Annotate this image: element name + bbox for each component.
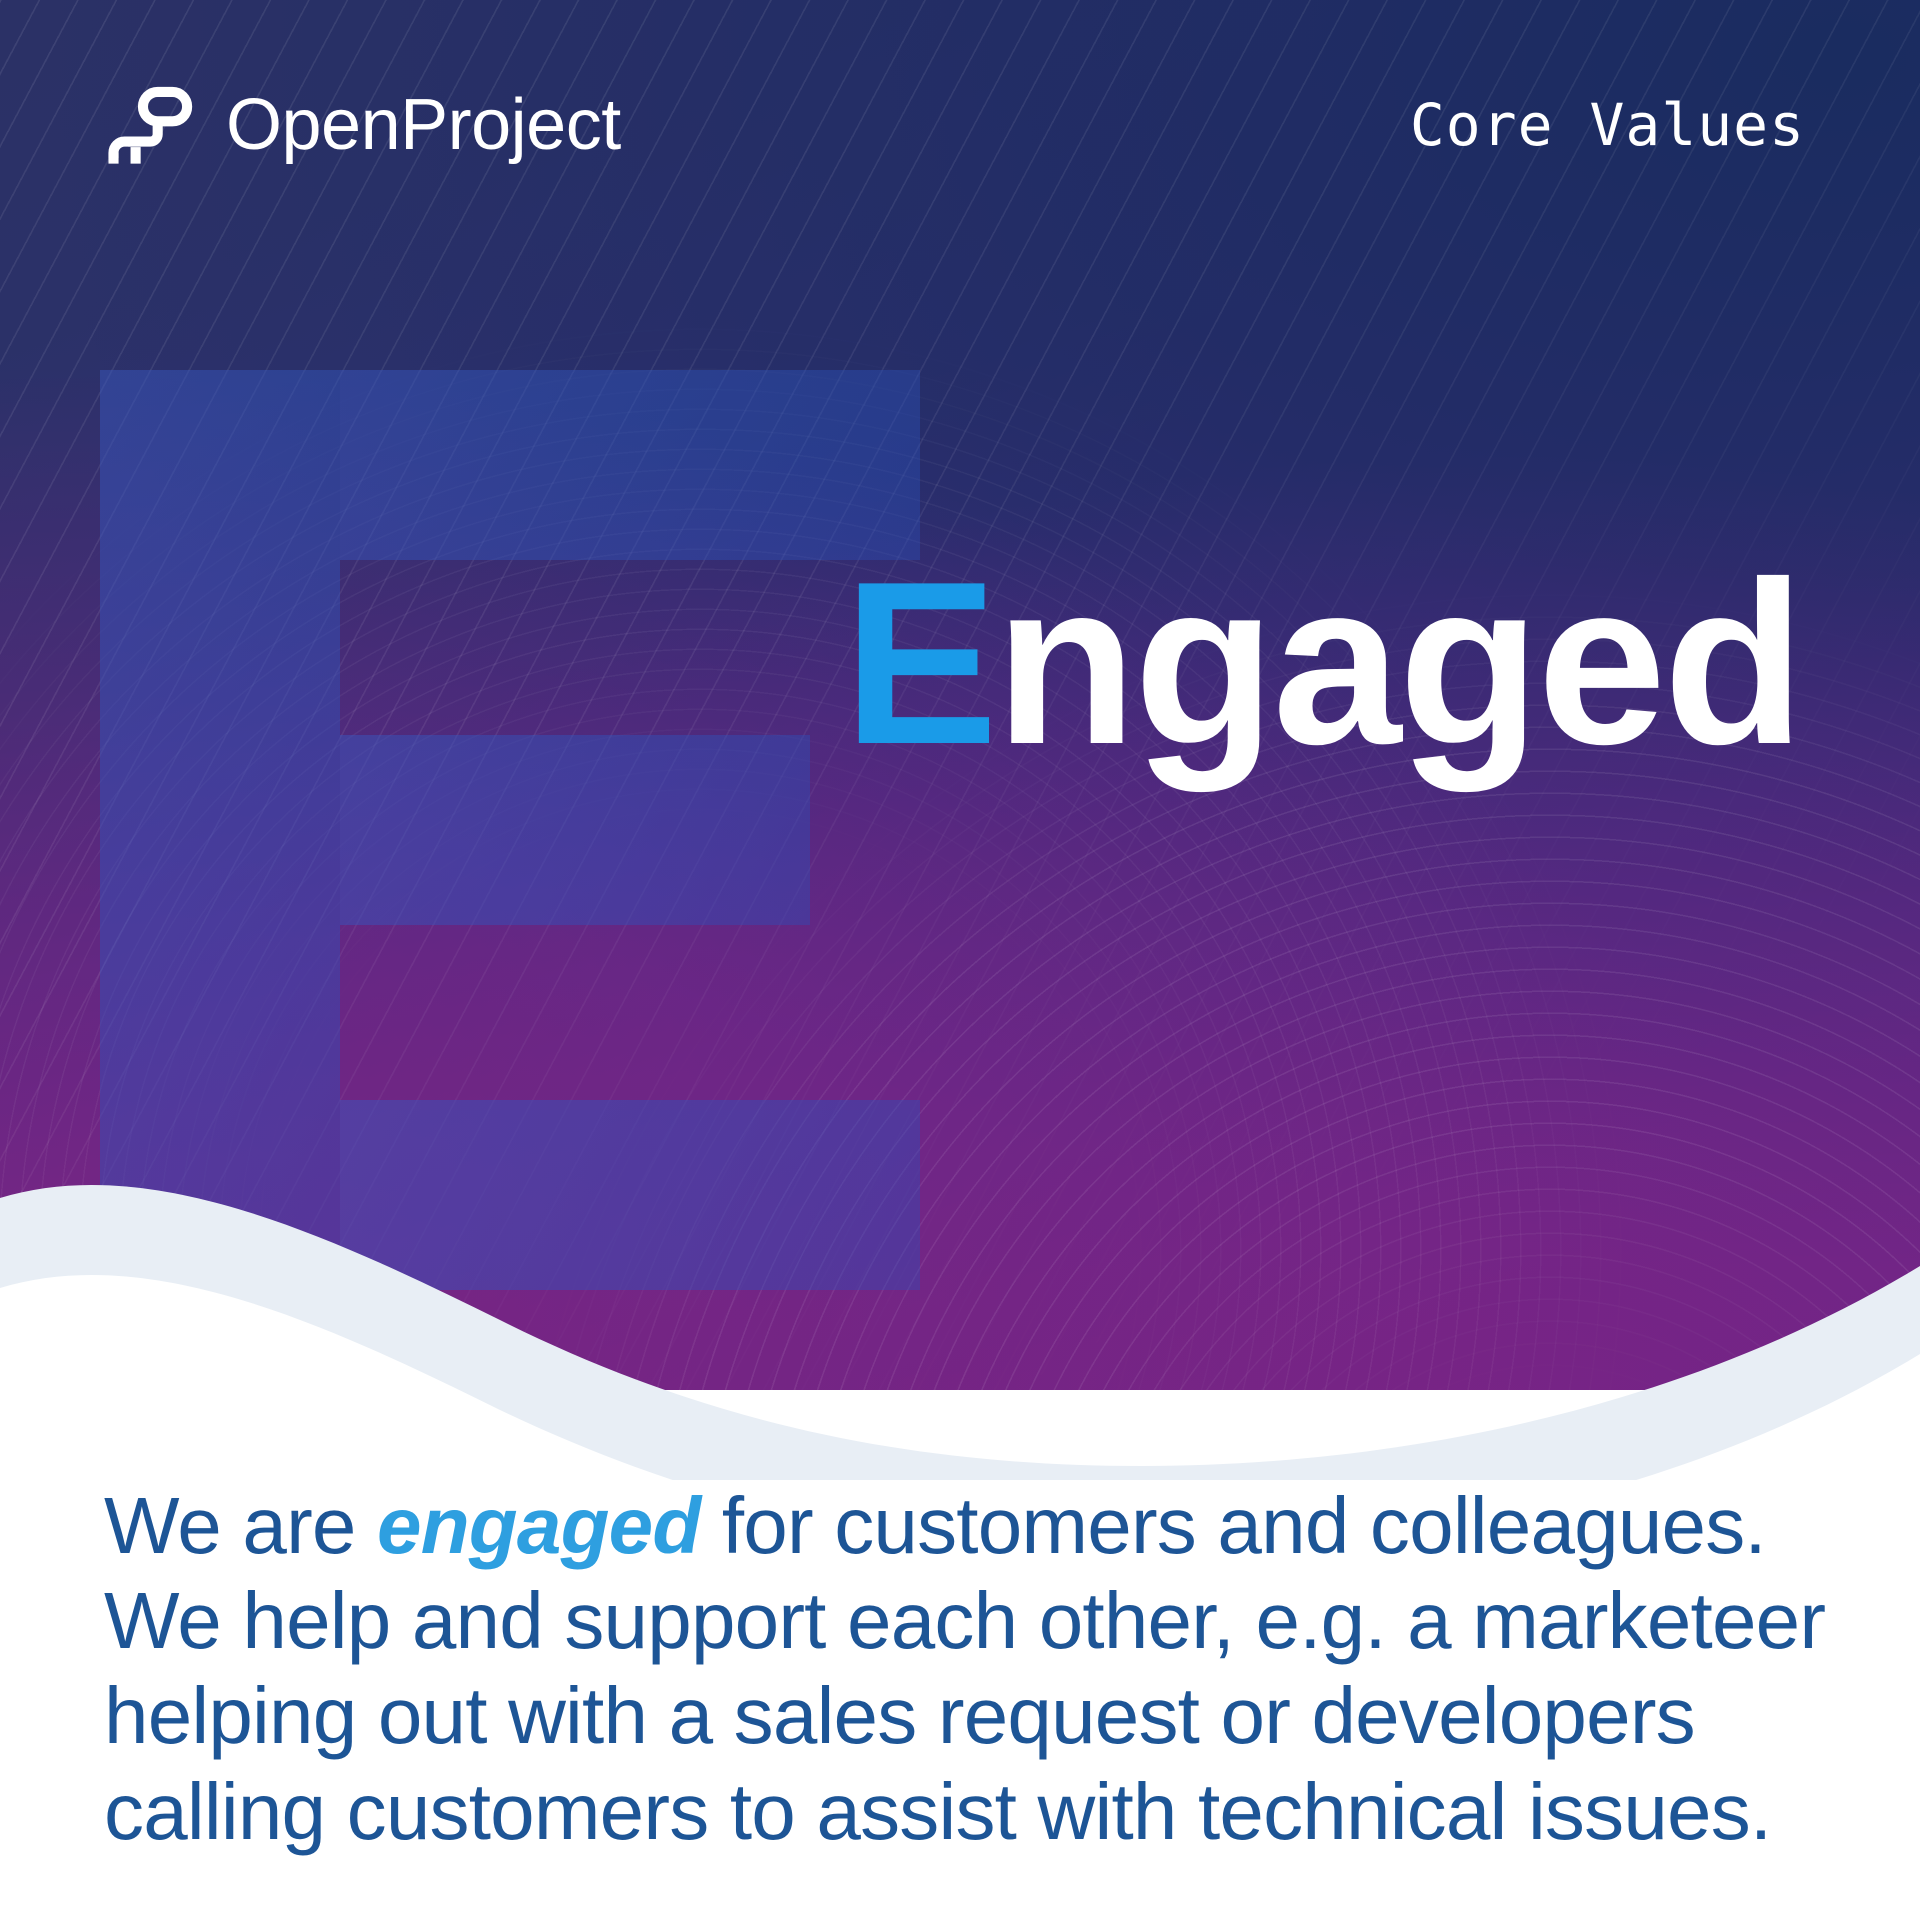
eyebrow-label: Core Values: [1410, 96, 1805, 154]
watermark-e-top-arm: [340, 370, 920, 560]
body-copy: We are engaged for customers and colleag…: [104, 1478, 1834, 1859]
brand-lockup: OpenProject: [108, 79, 621, 171]
card-header: OpenProject Core Values: [0, 0, 1920, 250]
headline-rest: ngaged: [995, 534, 1802, 793]
body-line-1-post: for customers and colleagues.: [700, 1481, 1765, 1570]
body-line-1-pre: We are: [104, 1481, 377, 1570]
body-line-2: We help and support each other, e.g. a m…: [104, 1573, 1834, 1668]
core-values-card: OpenProject Core Values Engaged We are e…: [0, 0, 1920, 1920]
openproject-logo-icon: [108, 79, 200, 171]
body-line-4: calling customers to assist with technic…: [104, 1764, 1834, 1859]
wave-divider: [0, 1140, 1920, 1480]
headline-accent-letter: E: [843, 534, 995, 793]
body-line-3: helping out with a sales request or deve…: [104, 1668, 1834, 1763]
body-emphasis-engaged: engaged: [377, 1481, 700, 1570]
page-title: Engaged: [0, 548, 1920, 780]
brand-name: OpenProject: [226, 89, 621, 161]
body-line-1: We are engaged for customers and colleag…: [104, 1478, 1834, 1573]
